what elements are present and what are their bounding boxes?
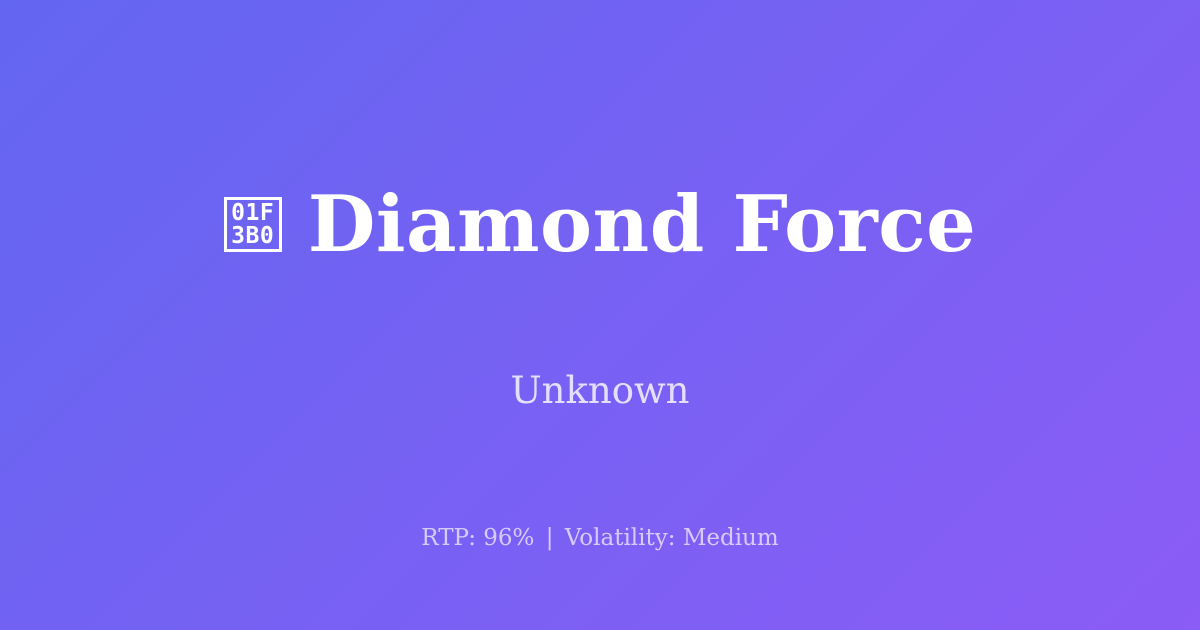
slot-machine-icon: 01F 3B0 xyxy=(224,197,282,252)
game-meta-line: RTP: 96% | Volatility: Medium xyxy=(0,527,1200,550)
rtp-label: RTP: xyxy=(421,525,476,551)
subtitle: Unknown xyxy=(510,372,689,409)
title-row: 01F 3B0 Diamond Force xyxy=(224,133,977,316)
page-title: Diamond Force xyxy=(308,186,977,264)
game-promo-card: 01F 3B0 Diamond Force Unknown RTP: 96% |… xyxy=(0,0,1200,630)
tofu-hex-top: 01F xyxy=(231,202,274,225)
meta-separator: | xyxy=(542,525,558,551)
rtp-value: 96% xyxy=(483,525,534,551)
volatility-value: Medium xyxy=(683,525,779,551)
volatility-label: Volatility: xyxy=(565,525,676,551)
tofu-hex-bottom: 3B0 xyxy=(231,225,274,248)
